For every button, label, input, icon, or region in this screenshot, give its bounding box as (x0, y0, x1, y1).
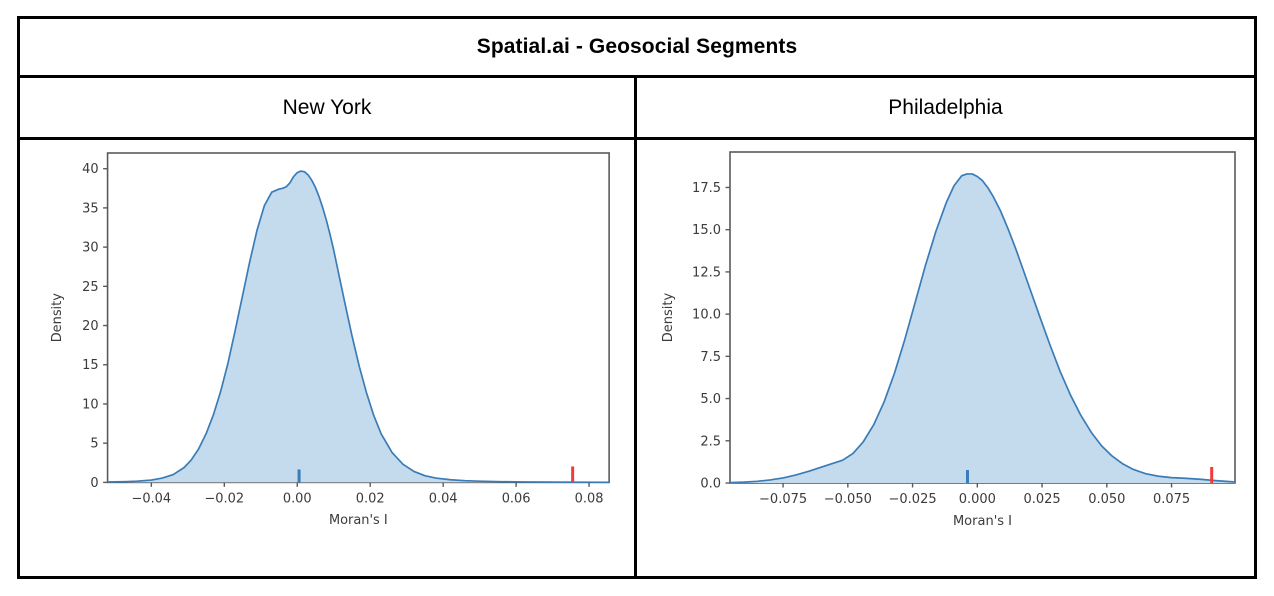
y-tick-label: 15.0 (692, 223, 721, 238)
y-tick-label: 12.5 (692, 265, 721, 280)
y-tick-label: 10.0 (692, 308, 721, 323)
y-tick-label: 7.5 (700, 350, 721, 365)
x-tick-label: 0.00 (283, 491, 312, 506)
density-area-fill (108, 171, 610, 482)
y-tick-label: 0 (90, 476, 98, 491)
x-tick-label: 0.000 (959, 492, 996, 507)
table-chart-row: −0.04−0.020.000.020.040.060.080510152025… (20, 140, 1254, 576)
y-tick-label: 10 (82, 397, 98, 412)
y-tick-label: 30 (82, 241, 98, 256)
city-label-new-york: New York (283, 96, 372, 120)
table-city-header-row: New York Philadelphia (20, 78, 1254, 140)
kde-chart-new-york: −0.04−0.020.000.020.040.060.080510152025… (20, 140, 634, 576)
y-tick-label: 5 (90, 437, 98, 452)
page-root: Spatial.ai - Geosocial Segments New York… (0, 0, 1274, 596)
y-tick-label: 40 (82, 162, 98, 177)
x-tick-label: 0.02 (356, 491, 385, 506)
x-tick-label: −0.04 (132, 491, 172, 506)
density-area-fill (730, 174, 1235, 483)
comparison-table: Spatial.ai - Geosocial Segments New York… (17, 16, 1257, 579)
chart-cell-philadelphia: −0.075−0.050−0.0250.0000.0250.0500.0750.… (637, 140, 1257, 576)
x-tick-label: −0.075 (759, 492, 807, 507)
table-title-row: Spatial.ai - Geosocial Segments (20, 19, 1254, 78)
y-tick-label: 0.0 (700, 477, 721, 492)
y-tick-label: 5.0 (700, 392, 721, 407)
y-tick-label: 17.5 (692, 181, 721, 196)
y-axis-title: Density (661, 292, 676, 342)
y-tick-label: 35 (82, 201, 98, 216)
x-axis-title: Moran's I (329, 513, 388, 528)
x-tick-label: 0.06 (502, 491, 531, 506)
x-tick-label: 0.08 (575, 491, 604, 506)
city-header-cell-philadelphia: Philadelphia (637, 78, 1254, 137)
kde-chart-philadelphia: −0.075−0.050−0.0250.0000.0250.0500.0750.… (637, 140, 1257, 576)
chart-cell-new-york: −0.04−0.020.000.020.040.060.080510152025… (20, 140, 637, 576)
x-tick-label: 0.04 (429, 491, 458, 506)
city-header-cell-new-york: New York (20, 78, 637, 137)
x-tick-label: −0.02 (204, 491, 244, 506)
x-tick-label: 0.025 (1023, 492, 1060, 507)
y-tick-label: 15 (82, 358, 98, 373)
city-label-philadelphia: Philadelphia (888, 96, 1002, 120)
kde-plot-svg: −0.075−0.050−0.0250.0000.0250.0500.0750.… (637, 140, 1257, 575)
x-axis-title: Moran's I (953, 514, 1012, 529)
y-axis-title: Density (50, 293, 65, 342)
y-tick-label: 20 (82, 319, 98, 334)
page-title: Spatial.ai - Geosocial Segments (477, 35, 798, 59)
x-tick-label: −0.025 (889, 492, 937, 507)
y-tick-label: 2.5 (700, 434, 721, 449)
x-tick-label: 0.075 (1153, 492, 1190, 507)
y-tick-label: 25 (82, 280, 98, 295)
kde-plot-svg: −0.04−0.020.000.020.040.060.080510152025… (20, 140, 634, 575)
x-tick-label: −0.050 (824, 492, 872, 507)
x-tick-label: 0.050 (1088, 492, 1125, 507)
